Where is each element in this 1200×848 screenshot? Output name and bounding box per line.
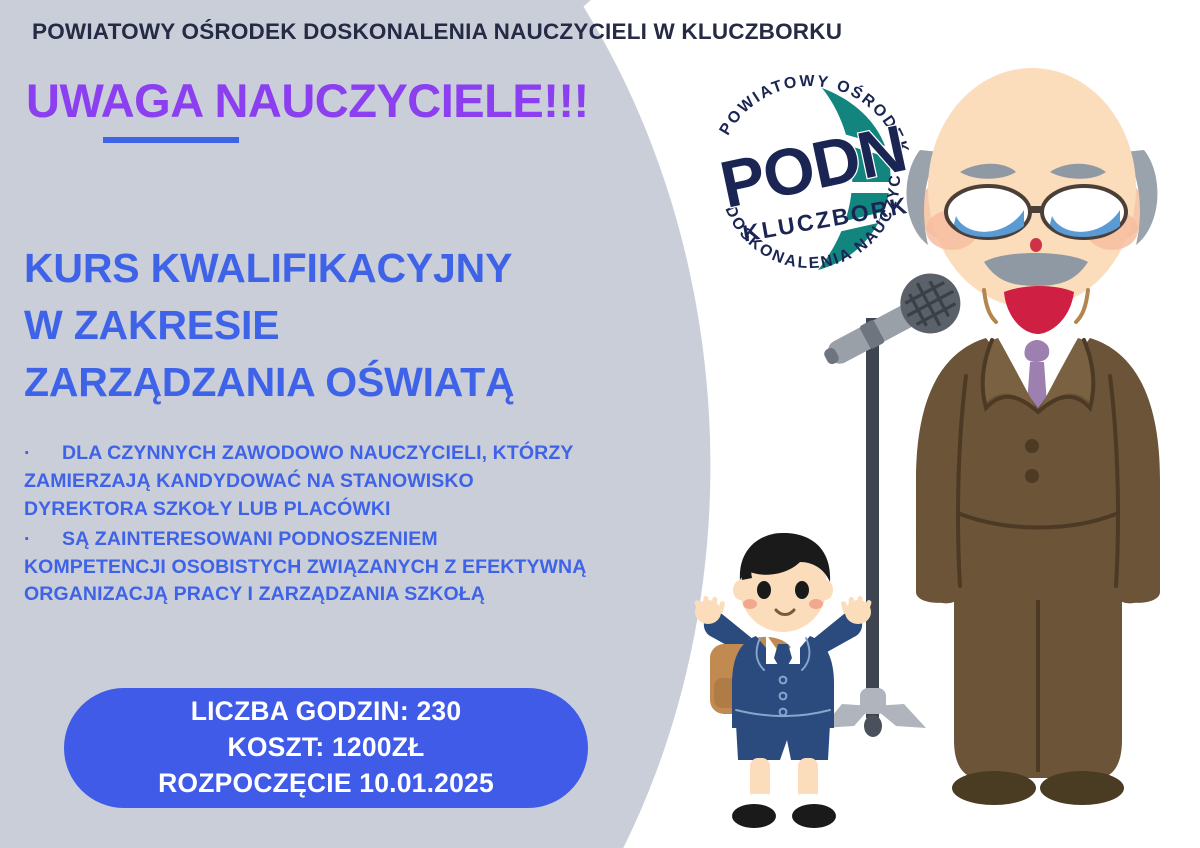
bullet-item-1-line-2: ZAMIERZAJĄ KANDYDOWAĆ NA STANOWISKO — [24, 468, 684, 496]
bullet-dot-icon: · — [24, 440, 62, 468]
course-details-box: LICZBA GODZIN: 230 KOSZT: 1200ZŁ ROZPOCZ… — [64, 688, 588, 808]
bullet-item-1-line-1: DLA CZYNNYCH ZAWODOWO NAUCZYCIELI, KTÓRZ… — [62, 442, 573, 464]
detail-hours: LICZBA GODZIN: 230 — [191, 695, 462, 729]
bullet-item-1: ·DLA CZYNNYCH ZAWODOWO NAUCZYCIELI, KTÓR… — [24, 440, 684, 524]
course-title-line-1: KURS KWALIFIKACYJNY — [24, 240, 664, 297]
course-title-line-2: W ZAKRESIE — [24, 297, 664, 354]
bullet-item-2: ·SĄ ZAINTERESOWANI PODNOSZENIEM KOMPETEN… — [24, 526, 684, 610]
detail-start-date: ROZPOCZĘCIE 10.01.2025 — [158, 767, 494, 801]
headline-uwaga-nauczyciele: UWAGA NAUCZYCIELE!!! — [26, 77, 589, 124]
organization-title: POWIATOWY OŚRODEK DOSKONALENIA NAUCZYCIE… — [32, 20, 672, 45]
detail-cost: KOSZT: 1200ZŁ — [228, 731, 425, 765]
text-column: POWIATOWY OŚRODEK DOSKONALENIA NAUCZYCIE… — [0, 0, 700, 848]
school-boy-illustration — [688, 528, 878, 836]
bullet-item-1-line-1-wrap: ·DLA CZYNNYCH ZAWODOWO NAUCZYCIELI, KTÓR… — [24, 440, 684, 468]
course-title-line-3: ZARZĄDZANIA OŚWIATĄ — [24, 354, 664, 411]
elderly-man-illustration — [880, 40, 1200, 840]
bullet-item-2-line-2: KOMPETENCJI OSOBISTYCH ZWIĄZANYCH Z EFEK… — [24, 554, 684, 582]
bullet-item-2-line-3: ORGANIZACJĄ PRACY I ZARZĄDZANIA SZKOŁĄ — [24, 581, 684, 609]
course-title: KURS KWALIFIKACYJNY W ZAKRESIE ZARZĄDZAN… — [24, 240, 664, 411]
bullet-item-1-line-3: DYREKTORA SZKOŁY LUB PLACÓWKI — [24, 496, 684, 524]
headline-underline — [103, 137, 239, 143]
poster-root: POWIATOWY OŚRODEK DOSKONALENIA NAUCZYCIE… — [0, 0, 1200, 848]
bullet-item-2-line-1: SĄ ZAINTERESOWANI PODNOSZENIEM — [62, 528, 438, 550]
bullet-list: ·DLA CZYNNYCH ZAWODOWO NAUCZYCIELI, KTÓR… — [24, 440, 684, 611]
bullet-dot-icon: · — [24, 526, 62, 554]
bullet-item-2-line-1-wrap: ·SĄ ZAINTERESOWANI PODNOSZENIEM — [24, 526, 684, 554]
